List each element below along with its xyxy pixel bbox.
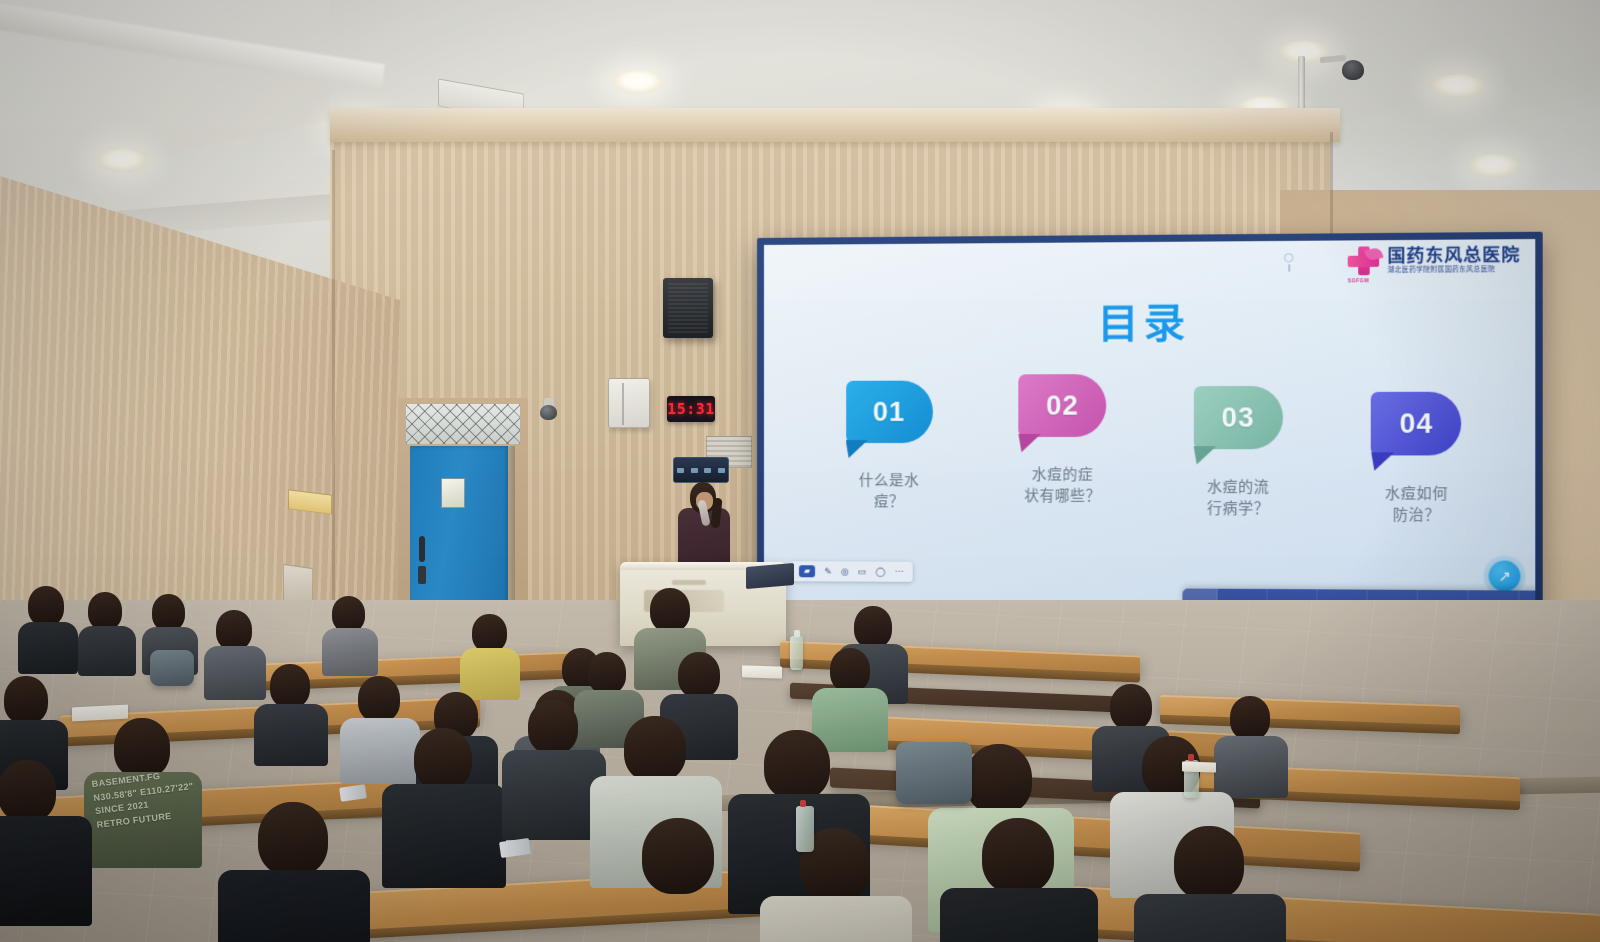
control-indicator bbox=[691, 468, 698, 473]
hospital-logo: SGFGM 国药东风总医院 湖北医药学院附属国药东风总医院 bbox=[1348, 245, 1521, 275]
door-lock-icon bbox=[418, 566, 426, 584]
toc-item-03[interactable]: 03 水痘的流 行病学？ bbox=[1184, 386, 1293, 521]
downlight bbox=[96, 148, 148, 172]
led-wall-clock: 15:31 bbox=[667, 396, 715, 422]
lecture-hall-scene: 15:31 SGFGM 国药东风总医院 湖北医药学院附属国药东风总医院 目录 bbox=[0, 0, 1600, 942]
downlight bbox=[1468, 154, 1520, 178]
toc-item-01[interactable]: 01 什么是水 痘？ bbox=[836, 381, 942, 514]
slide-title: 目录 bbox=[764, 288, 1535, 350]
backpack bbox=[896, 742, 972, 804]
hospital-cross-icon: SGFGM bbox=[1348, 246, 1379, 275]
water-bottle bbox=[790, 636, 803, 670]
more-tool-icon[interactable]: ⋯ bbox=[895, 567, 904, 576]
toc-number: 01 bbox=[873, 396, 905, 427]
toc-label: 水痘的流 行病学？ bbox=[1207, 478, 1269, 521]
toc-number: 04 bbox=[1400, 408, 1434, 440]
capture-tool-icon[interactable]: ▭ bbox=[858, 567, 867, 576]
mini-floating-toolbar[interactable]: ▰ ✎ ◎ ▭ ◯ ⋯ bbox=[790, 561, 913, 582]
hospital-name: 国药东风总医院 bbox=[1388, 246, 1521, 265]
fab-icon: ↗ bbox=[1498, 567, 1510, 585]
control-indicator bbox=[704, 468, 711, 473]
downlight bbox=[1432, 74, 1484, 98]
lectern-monitor bbox=[746, 563, 794, 589]
downlight bbox=[612, 70, 664, 94]
water-bottle bbox=[796, 806, 814, 852]
door-handle[interactable] bbox=[419, 536, 425, 562]
backpack bbox=[150, 650, 194, 686]
door-transom-window bbox=[406, 404, 520, 444]
toc-label: 水痘的症 状有哪些？ bbox=[1024, 465, 1101, 508]
lectern-sub-text bbox=[672, 580, 706, 585]
slide-watermark-icon bbox=[1284, 253, 1293, 262]
ceiling-camera-icon bbox=[1342, 60, 1364, 80]
presentation-slide[interactable]: SGFGM 国药东风总医院 湖北医药学院附属国药东风总医院 目录 01 什么是水… bbox=[764, 239, 1535, 637]
slide-floating-action-button[interactable]: ↗ bbox=[1489, 560, 1521, 591]
transom-mesh bbox=[406, 404, 520, 444]
toc-number: 03 bbox=[1222, 402, 1255, 434]
wall-speaker bbox=[663, 278, 713, 338]
notebook bbox=[72, 705, 128, 722]
notebook bbox=[1182, 761, 1216, 772]
toc-number: 02 bbox=[1046, 390, 1079, 421]
toc-label: 什么是水 痘？ bbox=[859, 471, 920, 513]
toc-label: 水痘如何 防治？ bbox=[1385, 484, 1448, 527]
wall-access-panel bbox=[608, 378, 650, 428]
control-indicator bbox=[718, 468, 725, 473]
eraser-tool-icon[interactable]: ◯ bbox=[875, 567, 885, 576]
control-indicator bbox=[677, 468, 684, 473]
clock-time: 15:31 bbox=[667, 400, 715, 418]
toc-item-02[interactable]: 02 水痘的症 状有哪些？ bbox=[1009, 374, 1116, 508]
logo-latin-text: SGFGM bbox=[1348, 278, 1384, 284]
hospital-subtitle: 湖北医药学院附属国药东风总医院 bbox=[1388, 266, 1521, 274]
pen-tool-icon[interactable]: ✎ bbox=[824, 567, 832, 576]
toc-item-04[interactable]: 04 水痘如何 防治？ bbox=[1361, 392, 1471, 528]
select-tool-icon[interactable]: ▰ bbox=[799, 565, 815, 577]
projection-screen-frame: SGFGM 国药东风总医院 湖北医药学院附属国药东风总医院 目录 01 什么是水… bbox=[757, 232, 1543, 645]
shape-tool-icon[interactable]: ◎ bbox=[841, 567, 849, 576]
door-viewport-window bbox=[441, 478, 465, 508]
wall-camera-icon bbox=[540, 405, 557, 420]
toc-bubble-list: 01 什么是水 痘？ 02 水痘的症 状有哪些？ 03 bbox=[836, 373, 1472, 527]
wall-soffit bbox=[330, 108, 1340, 142]
notebook bbox=[742, 665, 782, 678]
wall-control-panel[interactable] bbox=[673, 457, 729, 483]
